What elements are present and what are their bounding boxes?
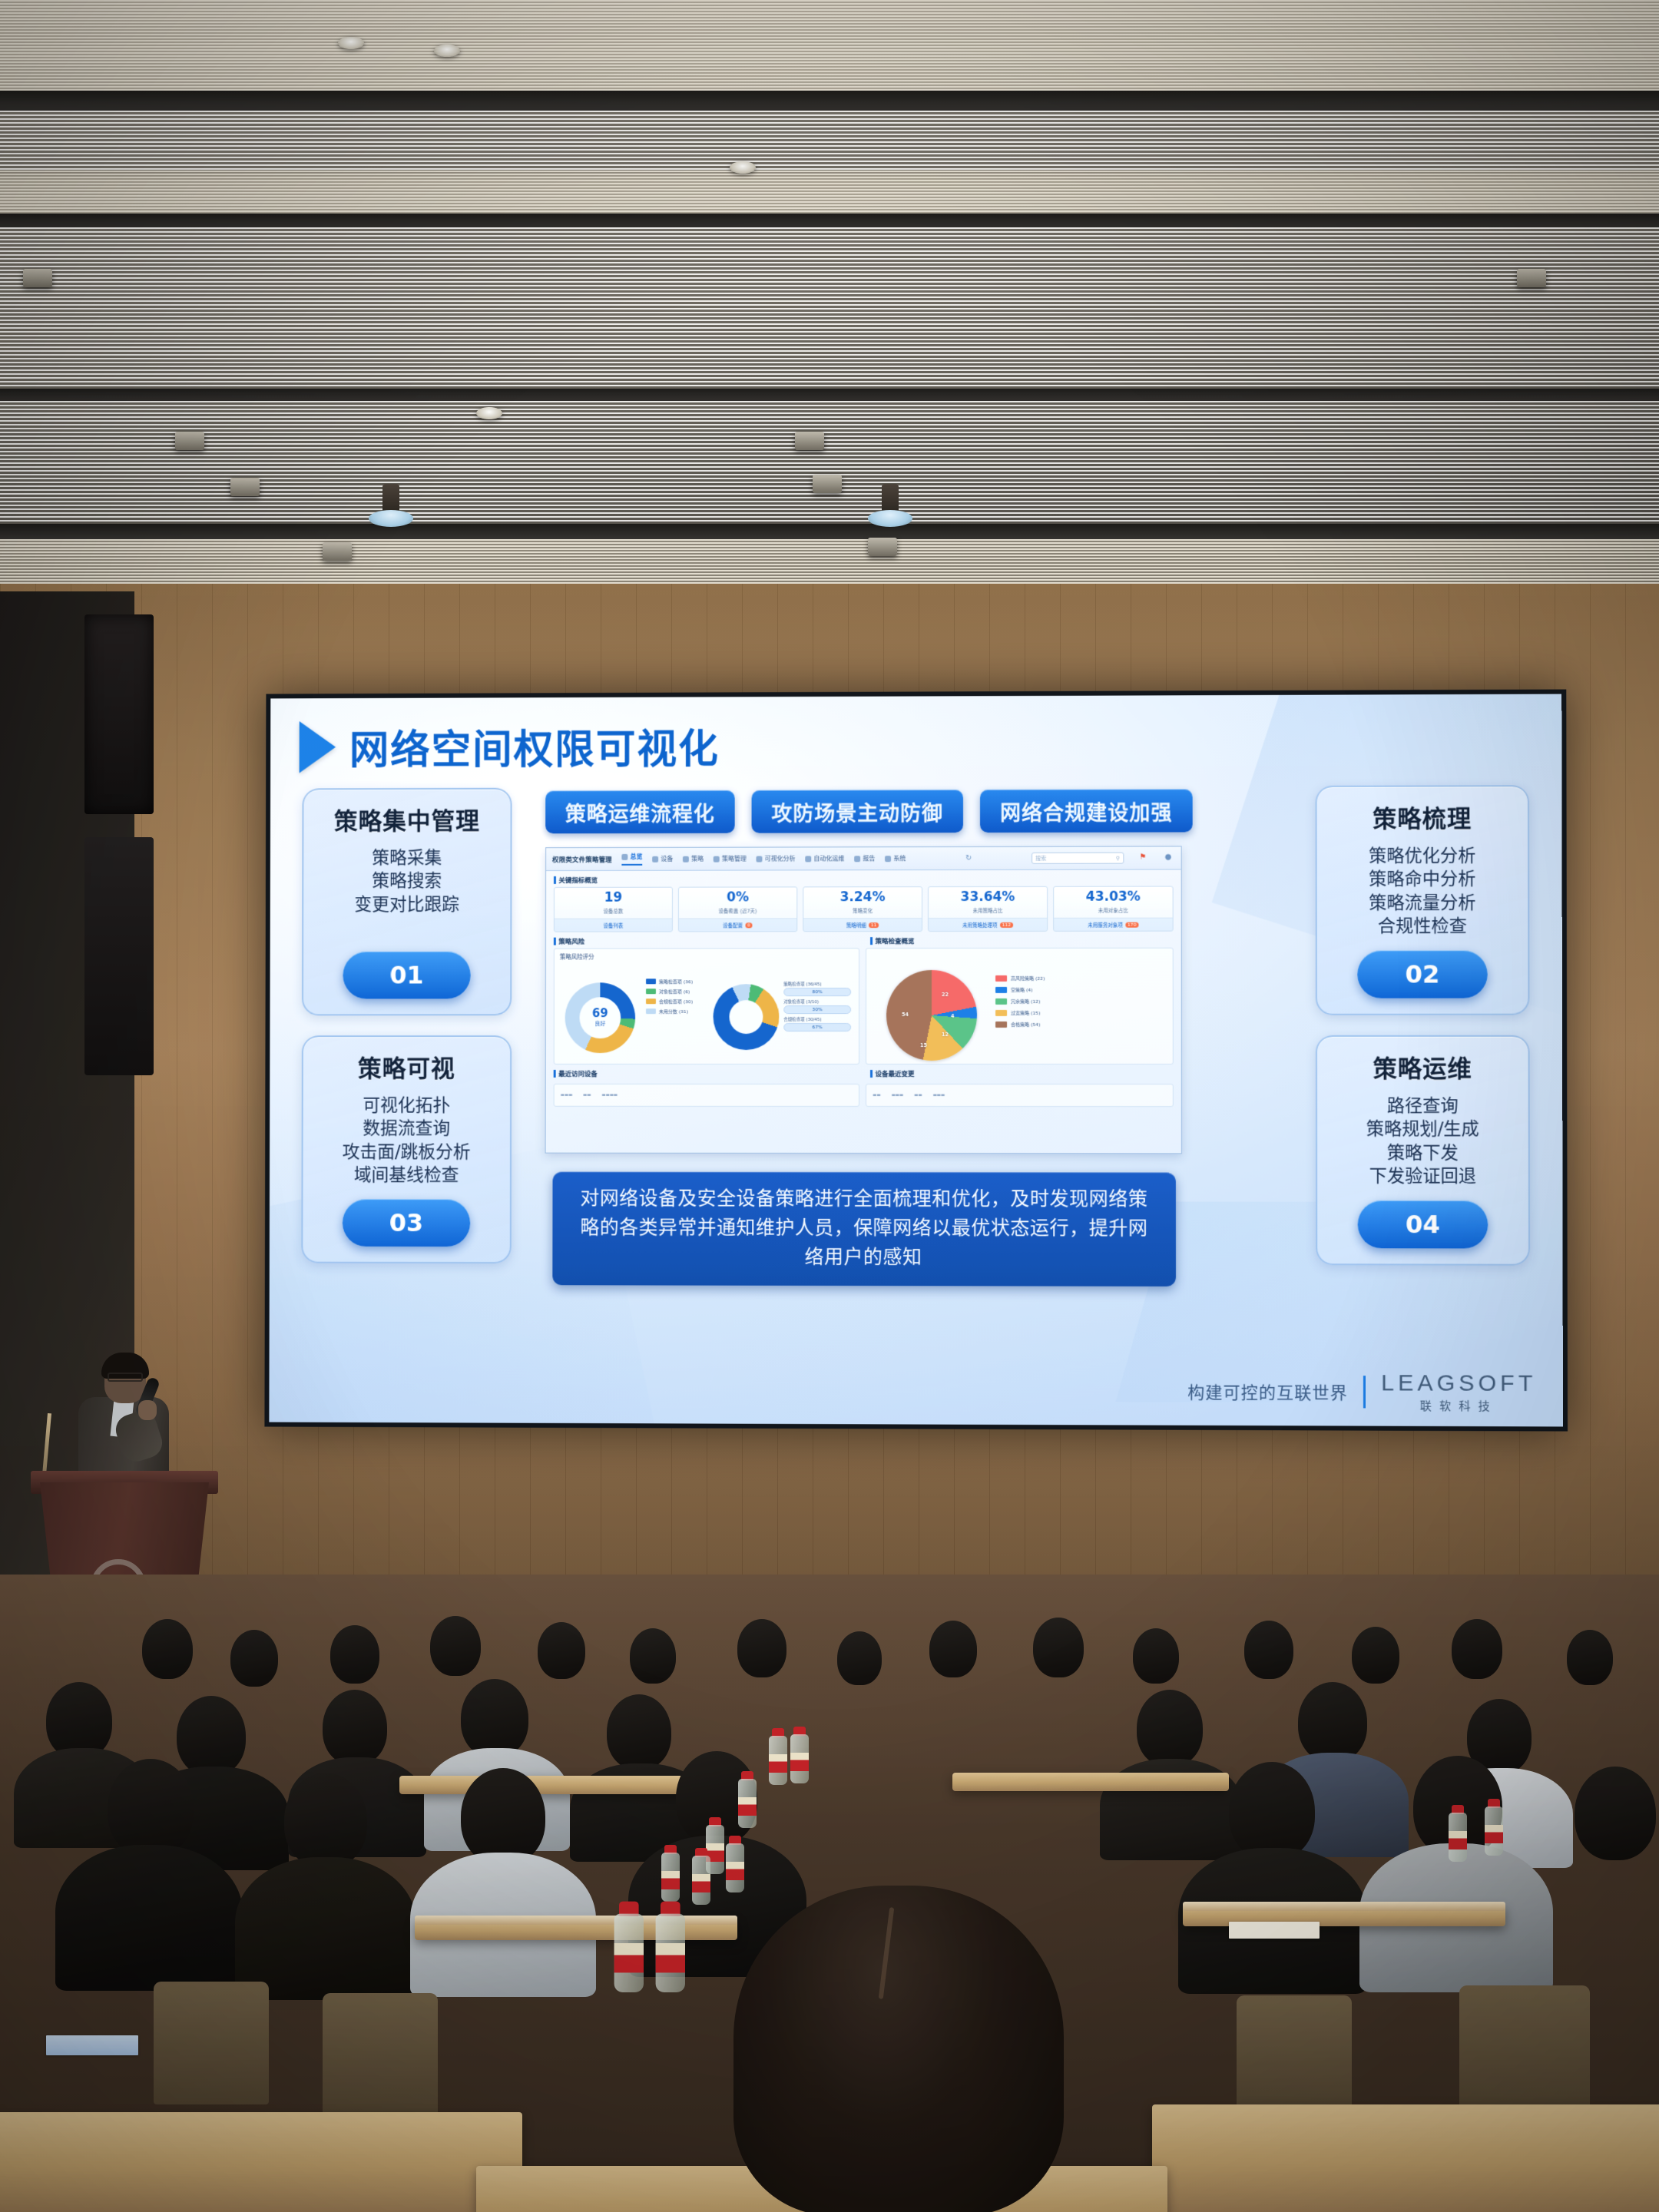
kpi-label: 设备覆盖 (近7天) (679, 904, 796, 918)
kpi-card[interactable]: 3.24% 策略变化 策略明细11 (803, 886, 922, 932)
legend-item: 过宽策略 (15) (995, 1009, 1045, 1016)
logo-en-text: LEAGSOFT (1381, 1370, 1536, 1397)
list-icon (714, 856, 720, 862)
downlight-icon (476, 407, 502, 419)
speaker-cabinet (84, 614, 154, 814)
panel-subtitle: 策略风险评分 (555, 949, 859, 961)
kpi-row: 19 设备总数 设备列表 0% 设备覆盖 (近7天) 设备配置0 3.24% 策… (546, 886, 1181, 932)
legend-item: 空策略 (4) (995, 986, 1045, 993)
dashboard-brand: 权限类文件策略管理 (552, 854, 612, 863)
kpi-footer[interactable]: 设备配置0 (679, 918, 796, 931)
audience-head (284, 1773, 367, 1868)
card-bullet: 路径查询 (1366, 1094, 1479, 1118)
gear-icon (806, 856, 812, 862)
ratio-value: 67% (783, 1023, 851, 1031)
card-bullet: 可视化拓扑 (343, 1094, 471, 1118)
policy-risk-panel: 策略风险评分 策略检查项 (36) 对象检查项 (6) 合规检查项 (30) 未… (554, 948, 859, 1065)
kpi-section-label: 关键指标概览 (546, 870, 1181, 887)
search-input[interactable]: 搜索 ⚲ (1031, 853, 1124, 864)
slide-description: 对网络设备及安全设备策略进行全面梳理和优化，及时发现网络策略的各类异常并通知维护… (552, 1172, 1176, 1286)
nav-item-reports[interactable]: 报告 (854, 854, 875, 863)
audience-head (1244, 1621, 1293, 1679)
kpi-footer[interactable]: 未用策略处理项112 (929, 918, 1047, 931)
ratio-list: 策略检查项 (36/45) 80% 对象检查项 (3/10) 30% 合规检查项… (783, 981, 851, 1034)
water-bottle (737, 1771, 757, 1828)
kpi-chip: 170 (1125, 922, 1139, 927)
audience-head (1352, 1627, 1399, 1684)
audience-head (330, 1625, 379, 1684)
sprinkler-icon (369, 484, 413, 541)
card-number-badge: 04 (1358, 1200, 1488, 1249)
legend-item: 高风险策略 (22) (995, 975, 1045, 982)
ratio-label: 对象检查项 (3/10) (783, 998, 851, 1005)
audience-head (323, 1690, 387, 1765)
legend-item: 合格策略 (54) (995, 1021, 1045, 1028)
glasses-icon (108, 1373, 143, 1382)
ceiling-spotlight-icon (813, 475, 842, 493)
pill-compliance[interactable]: 网络合规建设加强 (980, 789, 1193, 833)
foreground-hair (733, 1886, 1064, 2212)
card-bullet-list: 策略优化分析 策略命中分析 策略流量分析 合规性检查 (1369, 845, 1475, 939)
card-policy-operations[interactable]: 策略运维 路径查询 策略规划/生成 策略下发 下发验证回退 04 (1316, 1035, 1530, 1266)
conference-photo: 网络空间权限可视化 策略运维流程化 攻防场景主动防御 网络合规建设加强 策略集中… (0, 0, 1659, 2212)
card-title: 策略梳理 (1373, 799, 1472, 833)
risk-legend: 策略检查项 (36) 对象检查项 (6) 合规检查项 (30) 未用分数 (31… (646, 978, 693, 1018)
kpi-value: 33.64% (929, 887, 1047, 904)
chair (154, 1982, 269, 2104)
audience-head (1567, 1630, 1613, 1685)
nav-item-devices[interactable]: 设备 (652, 855, 673, 863)
handout-paper (46, 2035, 138, 2055)
kpi-label: 设备总数 (555, 905, 672, 919)
card-bullet-list: 路径查询 策略规划/生成 策略下发 下发验证回退 (1366, 1094, 1479, 1188)
downlight-icon (338, 37, 364, 49)
nav-item-visual-analysis[interactable]: 可视化分析 (757, 854, 796, 863)
pie-legend: 高风险策略 (22) 空策略 (4) 冗余策略 (12) 过宽策略 (15) 合… (995, 975, 1045, 1032)
foreground-person (733, 1886, 1064, 2212)
card-policy-central-management[interactable]: 策略集中管理 策略采集 策略搜索 变更对比跟踪 01 (302, 788, 512, 1016)
chair (1237, 1995, 1352, 2118)
audience-head (1298, 1682, 1367, 1762)
ceiling-spotlight-icon (175, 432, 204, 450)
card-bullet: 数据流查询 (343, 1118, 471, 1141)
audience-table (399, 1776, 699, 1794)
ceiling-spotlight-icon (1517, 269, 1546, 287)
water-bottle (661, 1845, 680, 1902)
ceiling-spotlight-icon (230, 478, 260, 496)
search-icon: ⚲ (1116, 855, 1120, 861)
pill-policy-ops[interactable]: 策略运维流程化 (545, 790, 735, 833)
card-bullet: 策略规划/生成 (1366, 1118, 1479, 1142)
server-icon (652, 856, 658, 862)
audience-head (142, 1619, 193, 1679)
audience-head (1452, 1619, 1502, 1679)
card-bullet: 合规性检查 (1369, 915, 1475, 939)
audience-head (1575, 1767, 1656, 1860)
nav-item-overview[interactable]: 总览 (622, 853, 643, 866)
presenter-hand (138, 1400, 157, 1420)
pie-slice-label: 22 (942, 992, 949, 998)
slide-title-row: 网络空间权限可视化 (300, 717, 720, 775)
audience-shoulders (55, 1845, 243, 1991)
kpi-value: 19 (555, 888, 672, 905)
risk-score-donut: 69 良好 (565, 982, 636, 1053)
kpi-label: 未用策略占比 (929, 904, 1047, 918)
card-bullet-list: 可视化拓扑 数据流查询 攻击面/跳板分析 域间基线检查 (343, 1094, 471, 1187)
card-bullet: 策略优化分析 (1369, 845, 1475, 869)
kpi-value: 0% (679, 887, 796, 904)
card-bullet: 攻击面/跳板分析 (343, 1141, 471, 1164)
kpi-card[interactable]: 0% 设备覆盖 (近7天) 设备配置0 (678, 886, 797, 932)
dashboard-bottom-tables: ▬▬▬▬▬▬▬▬▬ ▬▬▬▬▬▬▬▬▬▬ (546, 1081, 1181, 1107)
refresh-icon[interactable]: ↻ (965, 854, 972, 863)
downlight-icon (730, 161, 756, 174)
legend-item: 合规检查项 (30) (646, 998, 693, 1005)
card-policy-review[interactable]: 策略梳理 策略优化分析 策略命中分析 策略流量分析 合规性检查 02 (1316, 785, 1530, 1015)
pill-active-defense[interactable]: 攻防场景主动防御 (752, 790, 963, 833)
water-bottle (725, 1836, 745, 1892)
risk-score-value: 69 (592, 1008, 608, 1019)
kpi-card[interactable]: 33.64% 未用策略占比 未用策略处理项112 (928, 886, 1048, 932)
check-section-label: 策略检查概览 (863, 932, 1181, 948)
ceiling-spotlight-icon (795, 432, 824, 450)
water-bottle (691, 1848, 711, 1905)
card-number-badge: 03 (343, 1199, 471, 1247)
settings-icon (885, 856, 891, 862)
pie-slice-label: 4 (951, 1013, 955, 1019)
recent-section-label: 最近访问设备 (546, 1065, 863, 1081)
nav-item-policy-management[interactable]: 策略管理 (714, 855, 747, 863)
projection-screen: 网络空间权限可视化 策略运维流程化 攻防场景主动防御 网络合规建设加强 策略集中… (264, 690, 1568, 1432)
ratio-label: 合规检查项 (30/45) (783, 1016, 851, 1022)
footer-slogan: 构建可控的互联世界 (1187, 1379, 1348, 1404)
ratio-label: 策略检查项 (36/45) (783, 981, 851, 987)
nav-item-policies[interactable]: 策略 (683, 855, 704, 863)
table-row[interactable]: ▬▬▬▬▬▬▬▬▬ (554, 1084, 859, 1107)
chair (323, 1993, 438, 2116)
table-row[interactable]: ▬▬▬▬▬▬▬▬▬▬ (866, 1084, 1174, 1107)
ceiling-spotlight-icon (323, 542, 352, 561)
pill-button-group: 策略运维流程化 攻防场景主动防御 网络合规建设加强 (545, 789, 1193, 833)
ratio-value: 30% (783, 1005, 851, 1014)
card-bullet: 域间基线检查 (343, 1164, 471, 1187)
policy-check-pie-panel: 22 4 12 15 54 高风险策略 (22) 空策略 (4) 冗余策略 (1… (866, 948, 1174, 1065)
audience-head (837, 1631, 882, 1685)
card-bullet: 策略命中分析 (1369, 868, 1475, 892)
downlight-icon (434, 45, 460, 57)
water-bottle (1484, 1799, 1504, 1856)
kpi-footer[interactable]: 策略明细11 (803, 918, 922, 931)
presentation-slide: 网络空间权限可视化 策略运维流程化 攻防场景主动防御 网络合规建设加强 策略集中… (269, 694, 1563, 1427)
kpi-card[interactable]: 19 设备总数 设备列表 (554, 887, 673, 932)
logo-cn-text: 联软科技 (1420, 1398, 1498, 1414)
audience-head (46, 1682, 112, 1759)
kpi-footer[interactable]: 未用服务对象项170 (1054, 918, 1173, 931)
audience-head (461, 1679, 528, 1757)
page-title: 网络空间权限可视化 (349, 717, 720, 775)
card-title: 策略可视 (358, 1049, 455, 1084)
audience-head (430, 1616, 481, 1676)
chair (1459, 1985, 1590, 2116)
pie-slice-label: 15 (920, 1042, 927, 1048)
device-change-section-label: 设备最近变更 (863, 1065, 1181, 1081)
table-edge (1183, 1902, 1505, 1911)
pie-slice-label: 54 (902, 1012, 909, 1018)
card-bullet: 策略流量分析 (1369, 892, 1475, 916)
secondary-donut (714, 984, 780, 1050)
audience-head (461, 1768, 545, 1865)
risk-section-label: 策略风险 (546, 932, 863, 948)
water-bottle (768, 1728, 788, 1785)
speaker-cabinet (84, 837, 154, 1075)
card-bullet: 策略下发 (1366, 1141, 1479, 1165)
nav-item-automation[interactable]: 自动化运维 (806, 854, 845, 863)
audience-table (952, 1773, 1229, 1791)
card-bullet: 下发验证回退 (1366, 1165, 1479, 1189)
company-logo: LEAGSOFT 联软科技 (1381, 1370, 1536, 1414)
kpi-value: 3.24% (803, 887, 922, 904)
chart-panels: 策略风险评分 策略检查项 (36) 对象检查项 (6) 合规检查项 (30) 未… (546, 948, 1181, 1065)
audience-head (607, 1694, 671, 1770)
kpi-label: 策略变化 (803, 904, 922, 918)
arrow-right-icon (300, 720, 336, 773)
embedded-dashboard-screenshot: 权限类文件策略管理 总览 设备 策略 策略管理 (545, 846, 1182, 1154)
kpi-chip: 112 (1000, 922, 1013, 927)
legend-item: 未用分数 (31) (646, 1008, 693, 1015)
dashboard-navbar: 权限类文件策略管理 总览 设备 策略 策略管理 (546, 846, 1181, 871)
sprinkler-icon (868, 484, 912, 541)
home-icon (622, 853, 628, 859)
slide-footer: 构建可控的互联世界 LEAGSOFT 联软科技 (1187, 1369, 1536, 1414)
chart-icon (757, 856, 763, 862)
audience-head (538, 1622, 585, 1679)
legend-item: 策略检查项 (36) (646, 978, 693, 985)
card-policy-visibility[interactable]: 策略可视 可视化拓扑 数据流查询 攻击面/跳板分析 域间基线检查 03 (301, 1035, 512, 1263)
card-number-badge: 02 (1357, 950, 1488, 998)
audience-head (737, 1619, 786, 1677)
audience-head (108, 1759, 194, 1857)
audience-head (630, 1628, 676, 1684)
shield-icon (683, 856, 689, 862)
water-bottle (654, 1902, 708, 2054)
kpi-chip: 0 (745, 922, 753, 928)
ceiling (0, 0, 1659, 607)
risk-score-label: 良好 (594, 1020, 605, 1028)
kpi-card[interactable]: 43.03% 未用对象占比 未用服务对象项170 (1053, 886, 1174, 932)
audience-head (177, 1696, 246, 1776)
card-bullet: 变更对比跟踪 (354, 893, 459, 916)
ratio-value: 80% (783, 988, 851, 996)
water-bottle (1448, 1805, 1468, 1862)
audience-head (1137, 1690, 1203, 1767)
kpi-footer[interactable]: 设备列表 (555, 919, 672, 932)
policy-pie-chart: 22 4 12 15 54 (886, 970, 977, 1061)
kpi-chip: 11 (869, 922, 879, 928)
audience-head (929, 1621, 977, 1677)
ceiling-spotlight-icon (23, 269, 52, 287)
card-bullet: 策略搜索 (354, 870, 459, 893)
card-title: 策略运维 (1373, 1049, 1472, 1084)
card-bullet-list: 策略采集 策略搜索 变更对比跟踪 (354, 846, 459, 916)
nav-item-system[interactable]: 系统 (885, 854, 906, 863)
card-number-badge: 01 (343, 952, 470, 999)
alert-icon[interactable]: ⚑ (1139, 853, 1149, 863)
audience-head (230, 1630, 278, 1687)
kpi-value: 43.03% (1054, 887, 1173, 904)
card-title: 策略集中管理 (334, 802, 480, 836)
pie-slice-label: 12 (942, 1031, 949, 1038)
document-icon (854, 856, 860, 862)
audience-table (1152, 2104, 1659, 2212)
handout-paper (1229, 1922, 1320, 1939)
audience-floor (0, 1575, 1659, 2212)
legend-item: 对象检查项 (6) (646, 988, 693, 995)
audience-table (0, 2112, 522, 2212)
card-bullet: 策略采集 (355, 846, 460, 869)
water-bottle (790, 1727, 810, 1783)
legend-item: 冗余策略 (12) (995, 998, 1045, 1005)
audience-head (1033, 1618, 1084, 1677)
audience-head (1229, 1762, 1315, 1860)
kpi-label: 未用对象占比 (1054, 904, 1173, 918)
user-avatar-icon[interactable]: ● (1165, 853, 1175, 863)
footer-divider (1363, 1376, 1366, 1408)
audience-shoulders (235, 1857, 416, 2000)
audience-head (1133, 1628, 1179, 1684)
